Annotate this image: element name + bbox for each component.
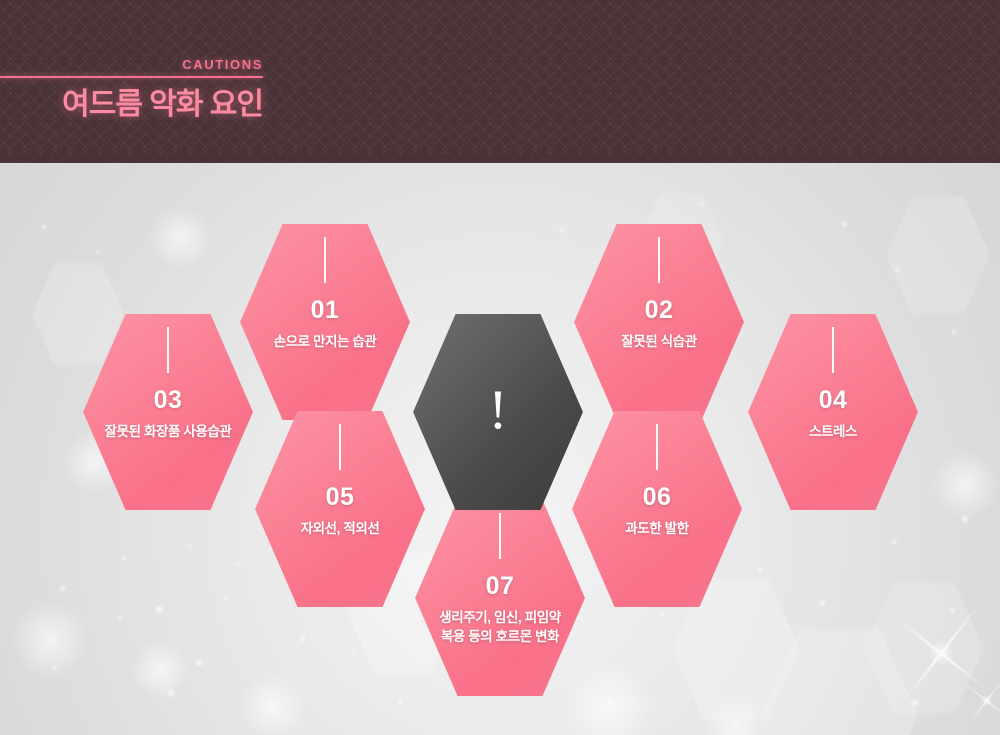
- hexagon-number: 01: [240, 296, 410, 325]
- header-banner: CAUTIONS 여드름 악화 요인: [0, 0, 1000, 163]
- hexagon-label: 생리주기, 임신, 피임약 복용 등의 호르몬 변화: [397, 608, 603, 646]
- hexagon-label: 잘못된 화장품 사용습관: [65, 422, 271, 441]
- page-title: 여드름 악화 요인: [0, 79, 263, 123]
- header-eyebrow: CAUTIONS: [0, 57, 263, 72]
- hexagon-tick-mark: [499, 513, 501, 559]
- hexagon-tick-mark: [658, 237, 660, 283]
- hexagon-tick-mark: [167, 327, 169, 373]
- hexagon-label: 스트레스: [730, 422, 936, 441]
- hexagon-item-03[interactable]: 03 잘못된 화장품 사용습관: [83, 314, 253, 510]
- header-sawtooth-edge: [0, 155, 1000, 163]
- hexagon-number: 02: [574, 296, 744, 325]
- hexagon-item-04[interactable]: 04 스트레스: [748, 314, 918, 510]
- exclamation-icon: !: [413, 314, 583, 510]
- hexagon-number: 05: [255, 483, 425, 512]
- hexagon-label: 잘못된 식습관: [556, 332, 762, 351]
- hexagon-tick-mark: [656, 424, 658, 470]
- hexagon-item-02[interactable]: 02 잘못된 식습관: [574, 224, 744, 420]
- hexagon-tick-mark: [339, 424, 341, 470]
- hexagon-item-01[interactable]: 01 손으로 만지는 습관: [240, 224, 410, 420]
- hexagon-item-07[interactable]: 07 생리주기, 임신, 피임약 복용 등의 호르몬 변화: [415, 500, 585, 696]
- slide-canvas: 03 잘못된 화장품 사용습관 01 손으로 만지는 습관 05 자외선, 적외…: [0, 0, 1000, 735]
- header-divider: [0, 76, 263, 78]
- hexagon-item-05[interactable]: 05 자외선, 적외선: [255, 411, 425, 607]
- hexagon-tick-mark: [324, 237, 326, 283]
- hexagon-tick-mark: [832, 327, 834, 373]
- hexagon-number: 06: [572, 483, 742, 512]
- hexagon-number: 04: [748, 386, 918, 415]
- hexagon-label: 과도한 발한: [554, 519, 760, 538]
- hexagon-label: 손으로 만지는 습관: [222, 332, 428, 351]
- hexagon-number: 07: [415, 572, 585, 601]
- hexagon-number: 03: [83, 386, 253, 415]
- hexagon-center-alert[interactable]: !: [413, 314, 583, 510]
- hexagon-label: 자외선, 적외선: [237, 519, 443, 538]
- hexagon-item-06[interactable]: 06 과도한 발한: [572, 411, 742, 607]
